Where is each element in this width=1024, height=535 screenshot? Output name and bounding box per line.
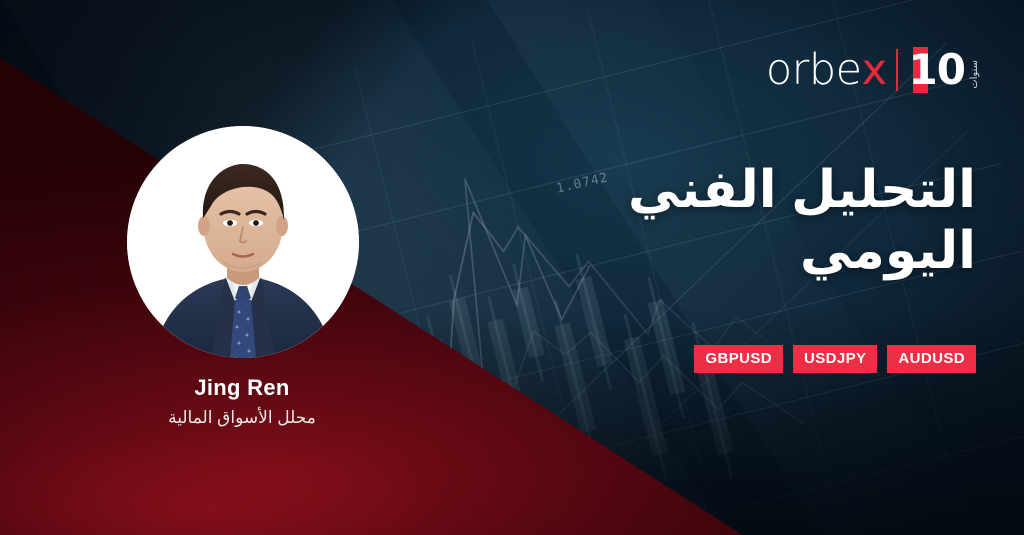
logo-divider — [896, 49, 898, 91]
badge-gbpusd[interactable]: GBPUSD — [694, 345, 783, 373]
headline-line-1: التحليل الفني — [456, 160, 976, 221]
presenter-name: Jing Ren — [92, 375, 392, 401]
presenter-avatar — [127, 126, 359, 358]
headline-line-2: اليومي — [456, 221, 976, 282]
badge-audusd[interactable]: AUDUSD — [887, 345, 976, 373]
anniversary-number-wrap: 10 — [909, 49, 965, 91]
badge-usdjpy[interactable]: USDJPY — [793, 345, 877, 373]
currency-pair-badges: GBPUSD USDJPY AUDUSD — [694, 345, 976, 373]
anniversary-mark: 10 سنوات — [909, 49, 980, 91]
logo-x-accent: x — [862, 45, 887, 95]
avatar-illustration — [127, 126, 359, 358]
orbex-logo[interactable]: orbex 10 سنوات — [766, 43, 980, 97]
presenter-info: Jing Ren محلل الأسواق المالية — [92, 375, 392, 429]
anniversary-number: 10 — [909, 45, 965, 94]
anniversary-years-label: سنوات — [969, 60, 980, 89]
page-title: التحليل الفني اليومي — [456, 160, 976, 283]
presenter-role: محلل الأسواق المالية — [92, 407, 392, 429]
logo-word-text: orbe — [766, 45, 862, 95]
logo-wordmark: orbex — [766, 49, 887, 92]
promo-banner: 1.0742 — [0, 0, 1024, 535]
